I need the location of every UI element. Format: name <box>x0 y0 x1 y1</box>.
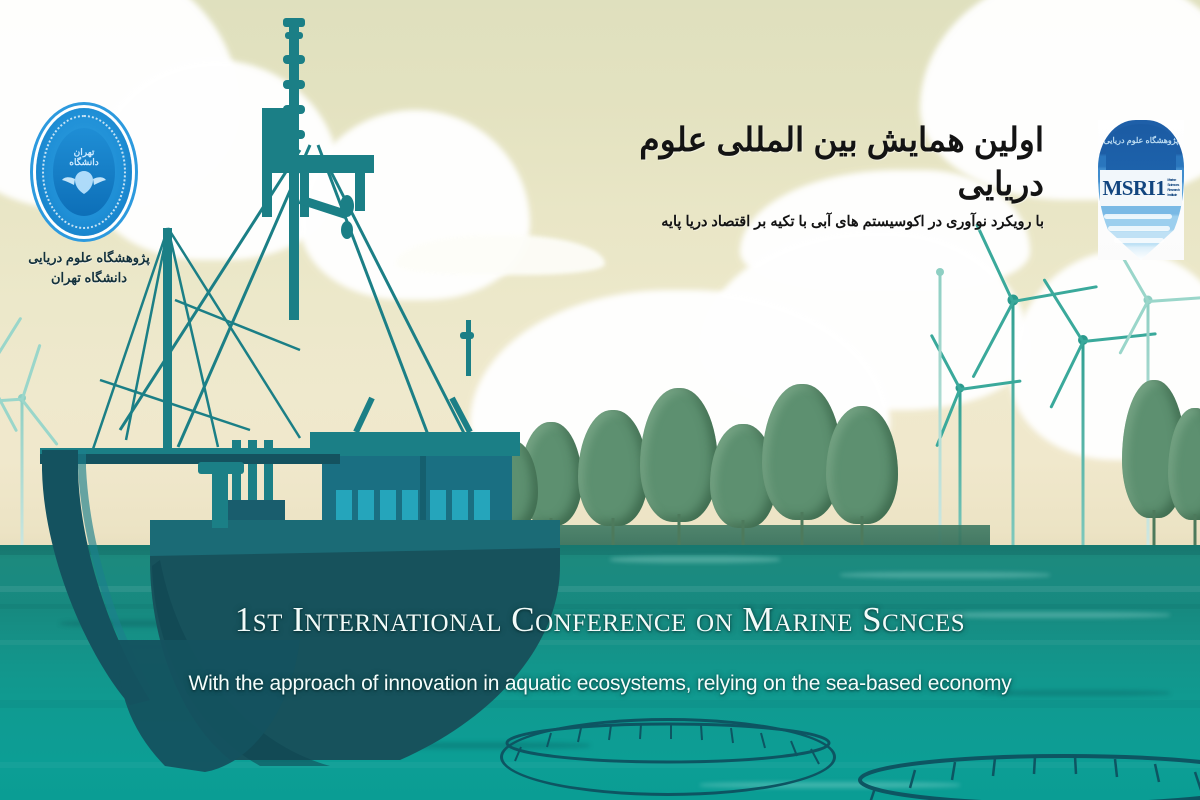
ut-logo-caption: پژوهشگاه علوم دریایی دانشگاه تهران <box>14 248 164 287</box>
ut-seal-top-text: تهران <box>74 147 95 157</box>
msri-dome <box>1106 124 1176 170</box>
msri-expansion-line: Institute <box>1167 193 1179 198</box>
english-title: 1st International Conference on Marine S… <box>0 600 1200 640</box>
net-pen-bars <box>855 752 1200 800</box>
msri-name-band: MSRI1 Marine Sciences Research Institute <box>1100 170 1182 206</box>
msri-expansion: Marine Sciences Research Institute <box>1167 178 1179 197</box>
conference-banner: تهران دانشگاه پژوهشگاه علوم دریایی دانشگ… <box>0 0 1200 800</box>
ut-wings-icon <box>61 167 107 197</box>
msri-logo: پژوهشگاه علوم دریایی MSRI1 Marine Scienc… <box>1098 120 1184 260</box>
msri-wave <box>1114 238 1164 243</box>
english-subtitle: With the approach of innovation in aquat… <box>0 672 1200 696</box>
ut-seal-mid-text: دانشگاه <box>69 157 98 167</box>
msri-arabic-text: پژوهشگاه علوم دریایی <box>1098 136 1184 145</box>
ut-seal-inner: تهران دانشگاه <box>53 128 115 216</box>
ut-seal: تهران دانشگاه <box>36 108 132 236</box>
msri-numeral: 1 <box>1155 176 1165 201</box>
water-ripple <box>840 572 1050 578</box>
ut-caption-line-2: دانشگاه تهران <box>14 268 164 288</box>
tree-line-right <box>1122 350 1200 550</box>
persian-subtitle: با رویکرد نوآوری در اکوسیستم های آبی با … <box>574 212 1044 232</box>
msri-wave <box>1104 214 1172 219</box>
aquaculture-net-pen <box>855 752 1200 800</box>
university-of-tehran-logo: تهران دانشگاه پژوهشگاه علوم دریایی دانشگ… <box>36 108 132 238</box>
ut-caption-line-1: پژوهشگاه علوم دریایی <box>14 248 164 268</box>
msri-wave <box>1108 226 1170 231</box>
msri-acronym-block: MSRI1 Marine Sciences Research Institute <box>1102 176 1179 201</box>
persian-title: اولین همایش بین المللی علوم دریایی <box>574 118 1044 206</box>
msri-acronym: MSRI <box>1102 176 1155 201</box>
